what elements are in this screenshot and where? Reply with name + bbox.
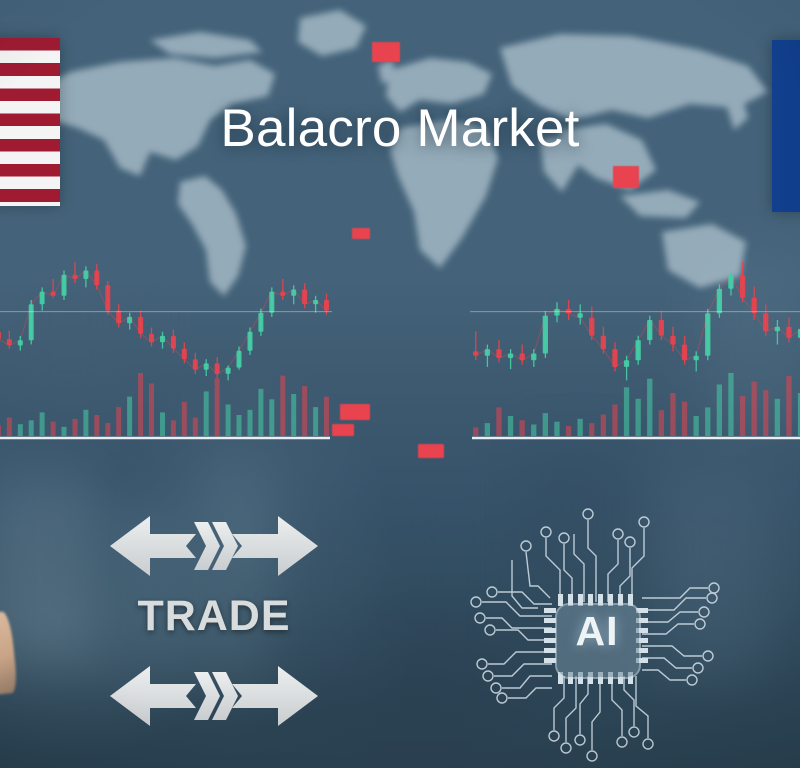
chevrons-bottom: [194, 672, 238, 720]
left-market-chart: [0, 248, 332, 458]
ai-chip-graphic: AI: [468, 498, 726, 763]
map-marker-red-5: [332, 424, 354, 436]
marketing-banner: Balacro Market: [0, 0, 800, 768]
trade-graphic: TRADE: [108, 500, 320, 740]
arrow-left-bottom: [110, 666, 196, 726]
arrow-right-bottom: [232, 666, 318, 726]
chevrons-top: [194, 522, 238, 570]
page-title: Balacro Market: [0, 98, 800, 159]
map-marker-red-1: [372, 42, 400, 62]
arrow-right-top: [232, 516, 318, 576]
ai-label: AI: [468, 608, 726, 655]
arrow-left-top: [110, 516, 196, 576]
map-marker-red-2: [613, 166, 639, 188]
map-marker-red-4: [340, 404, 370, 420]
map-marker-red-3: [352, 228, 370, 239]
trade-label: TRADE: [108, 592, 320, 641]
right-market-chart: [470, 248, 800, 458]
map-marker-red-6: [418, 444, 444, 458]
